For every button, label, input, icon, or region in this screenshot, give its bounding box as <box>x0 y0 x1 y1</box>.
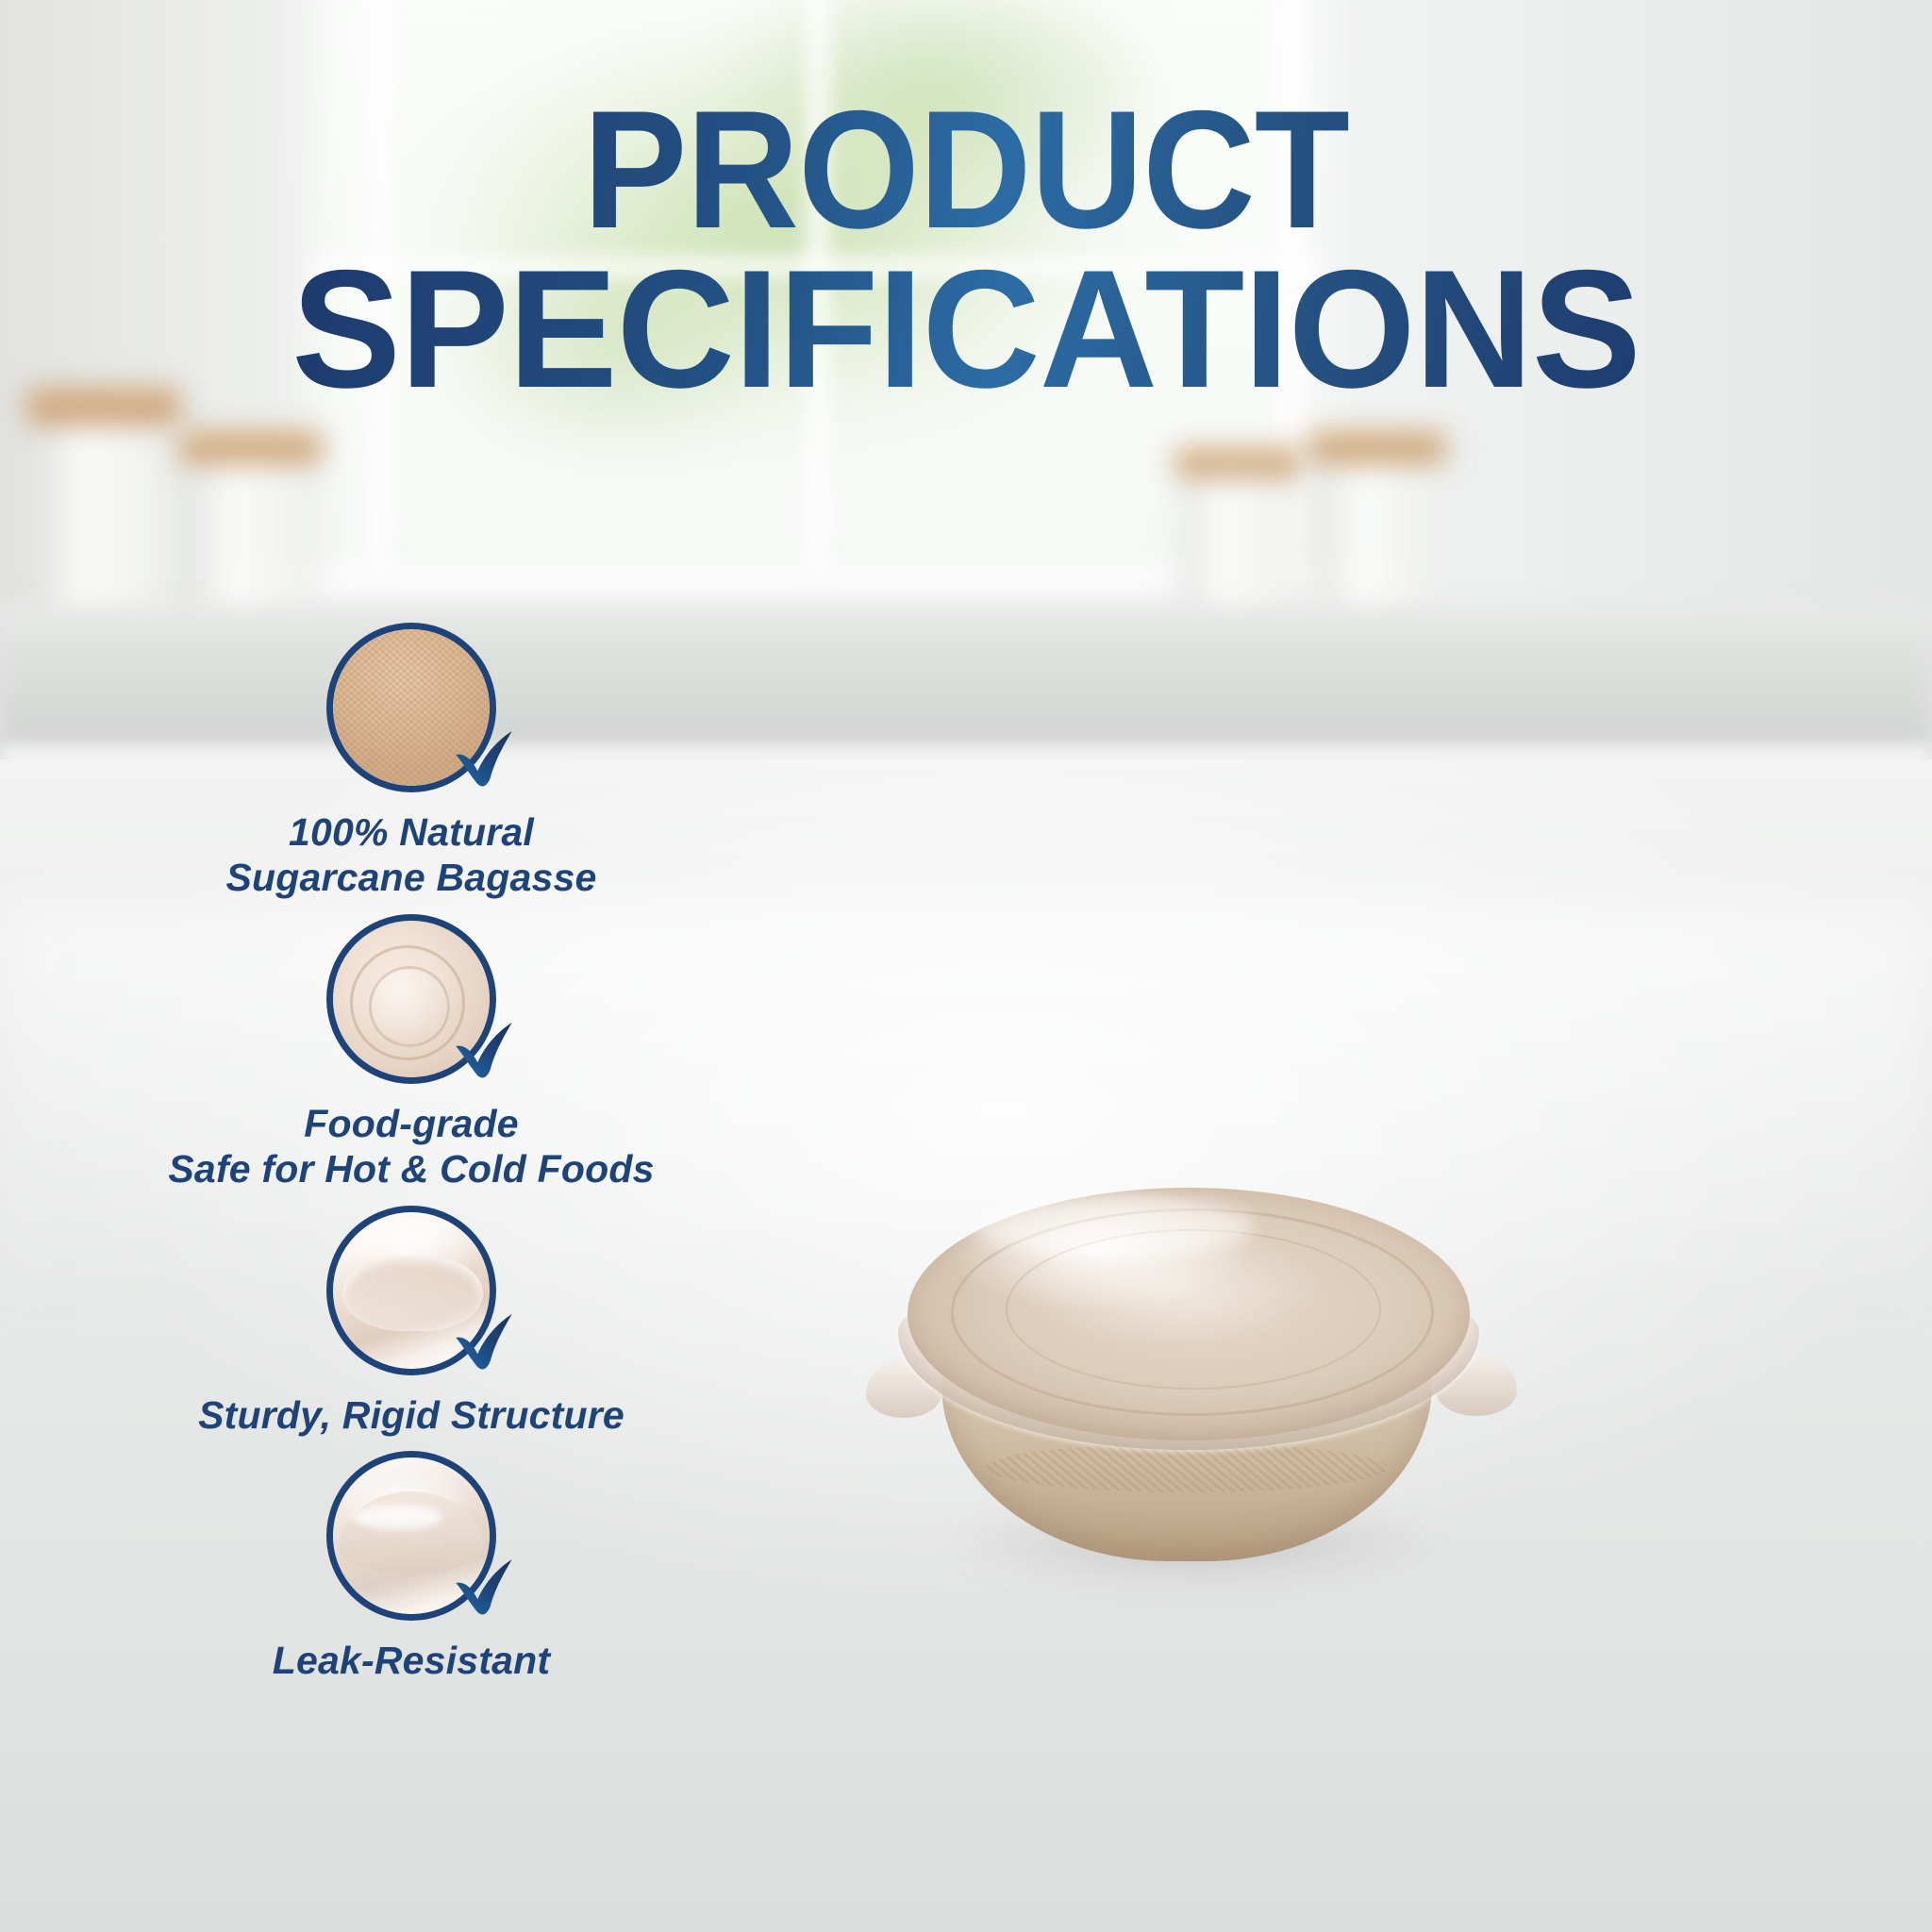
feature-label: Sturdy, Rigid Structure <box>81 1392 741 1438</box>
feature-item: Leak-Resistant <box>81 1451 741 1683</box>
title-line-product: PRODUCT <box>68 91 1865 248</box>
feature-label-line1: 100% Natural <box>81 809 741 855</box>
feature-label-line2: Safe for Hot & Cold Foods <box>81 1146 741 1191</box>
feature-item: Food-grade Safe for Hot & Cold Foods <box>81 914 741 1192</box>
feature-item: Sturdy, Rigid Structure <box>81 1206 741 1438</box>
dome-lid-icon <box>326 1451 496 1621</box>
title-line-specifications: SPECIFICATIONS <box>25 250 1908 408</box>
feature-label: Food-grade Safe for Hot & Cold Foods <box>81 1101 741 1192</box>
feature-label-line2: Sugarcane Bagasse <box>81 855 741 900</box>
feature-label: 100% Natural Sugarcane Bagasse <box>81 809 741 901</box>
bowl-rim-icon <box>326 1206 496 1375</box>
feature-label-line1: Food-grade <box>81 1101 741 1146</box>
feature-label: Leak-Resistant <box>81 1638 741 1683</box>
infographic-canvas: PRODUCT SPECIFICATIONS 100% Natural <box>0 0 1932 1932</box>
page-title: PRODUCT SPECIFICATIONS <box>0 91 1932 408</box>
feature-list: 100% Natural Sugarcane Bagasse Food <box>81 623 741 1696</box>
feature-label-line1: Sturdy, Rigid Structure <box>81 1392 741 1438</box>
feature-label-line1: Leak-Resistant <box>81 1638 741 1683</box>
lid-highlight <box>972 1195 1255 1257</box>
bowl-lid-top-icon <box>326 914 496 1084</box>
feature-item: 100% Natural Sugarcane Bagasse <box>81 623 741 901</box>
hero-product-image <box>830 1174 1547 1618</box>
bagasse-texture-icon <box>326 623 496 792</box>
